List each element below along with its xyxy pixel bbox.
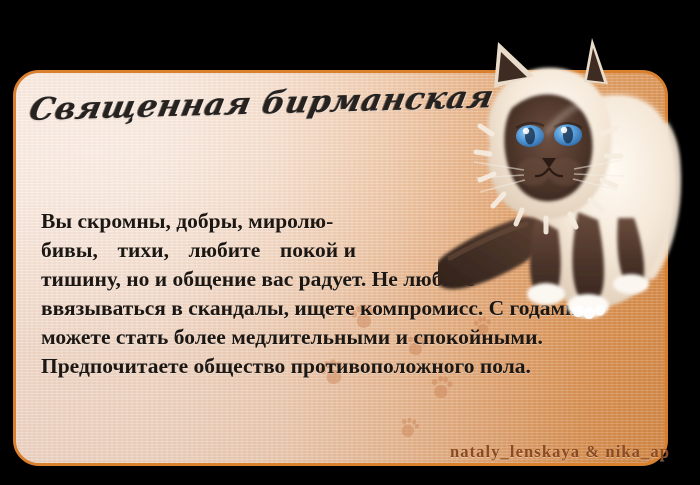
paw-print-icon	[397, 414, 422, 441]
description-text: Вы скромны, добры, миролю-бивы,тихи,люби…	[41, 207, 641, 380]
description-word: тихи,	[117, 236, 168, 265]
description-word: покой и	[280, 236, 356, 265]
description-word: любите	[189, 236, 261, 265]
description-word: бивы,	[41, 236, 98, 265]
description-line: бивы,тихи,любитепокой и	[41, 236, 356, 265]
postcard-canvas: Священная бирманская Вы скромны, добры, …	[0, 0, 700, 485]
author-credit: nataly_lenskaya & nika_ap	[450, 442, 670, 462]
description-line: Предпочитаете общество противоположного …	[41, 352, 641, 381]
description-line: можете стать более медлительными и споко…	[41, 323, 641, 352]
description-line: Вы скромны, добры, миролю-	[41, 207, 641, 236]
description-line: ввязываться в скандалы, ищете компромисс…	[41, 294, 641, 323]
description-line: тишину, но и общение вас радует. Не люби…	[41, 265, 641, 294]
